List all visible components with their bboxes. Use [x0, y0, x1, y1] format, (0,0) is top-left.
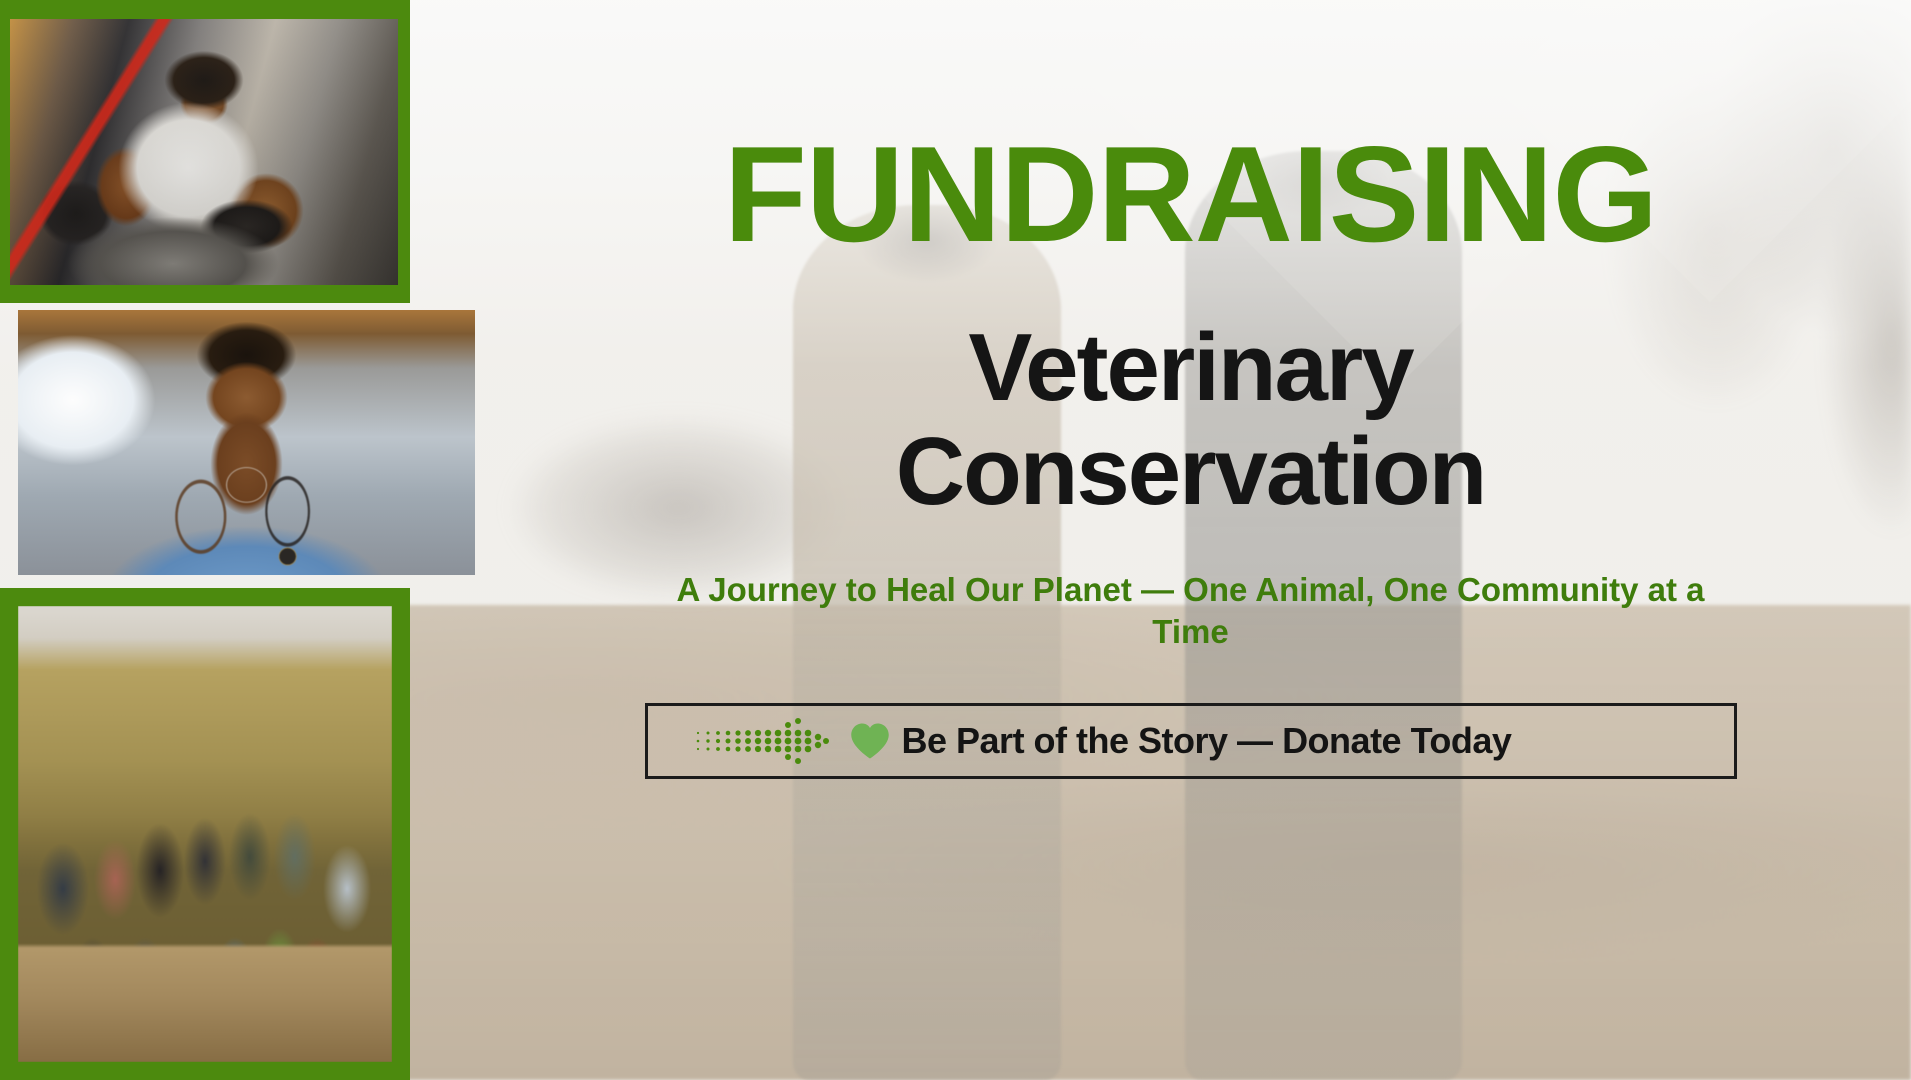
hero-heading-line-1: Veterinary [896, 316, 1485, 420]
community-group-volunteers-children-photo [18, 606, 392, 1062]
hero-heading: Veterinary Conservation [896, 316, 1485, 523]
veterinarian-examining-dog-photo [10, 19, 398, 285]
hero-heading-line-2: Conservation [896, 420, 1485, 524]
page-title: FUNDRAISING [470, 126, 1911, 262]
halftone-arrow-right-icon [694, 713, 834, 769]
hero-tagline: A Journey to Heal Our Planet — One Anima… [671, 569, 1711, 652]
collage-frame-top [0, 0, 410, 303]
collage-frame-bottom [0, 588, 410, 1080]
heart-icon [850, 722, 890, 760]
photo-collage [0, 0, 509, 1080]
hero-content: FUNDRAISING Veterinary Conservation A Jo… [470, 0, 1911, 1080]
smiling-veterinary-student-portrait-photo [18, 310, 475, 575]
donate-cta-banner[interactable]: Be Part of the Story — Donate Today [645, 703, 1737, 779]
donate-cta-label: Be Part of the Story — Donate Today [902, 720, 1512, 762]
